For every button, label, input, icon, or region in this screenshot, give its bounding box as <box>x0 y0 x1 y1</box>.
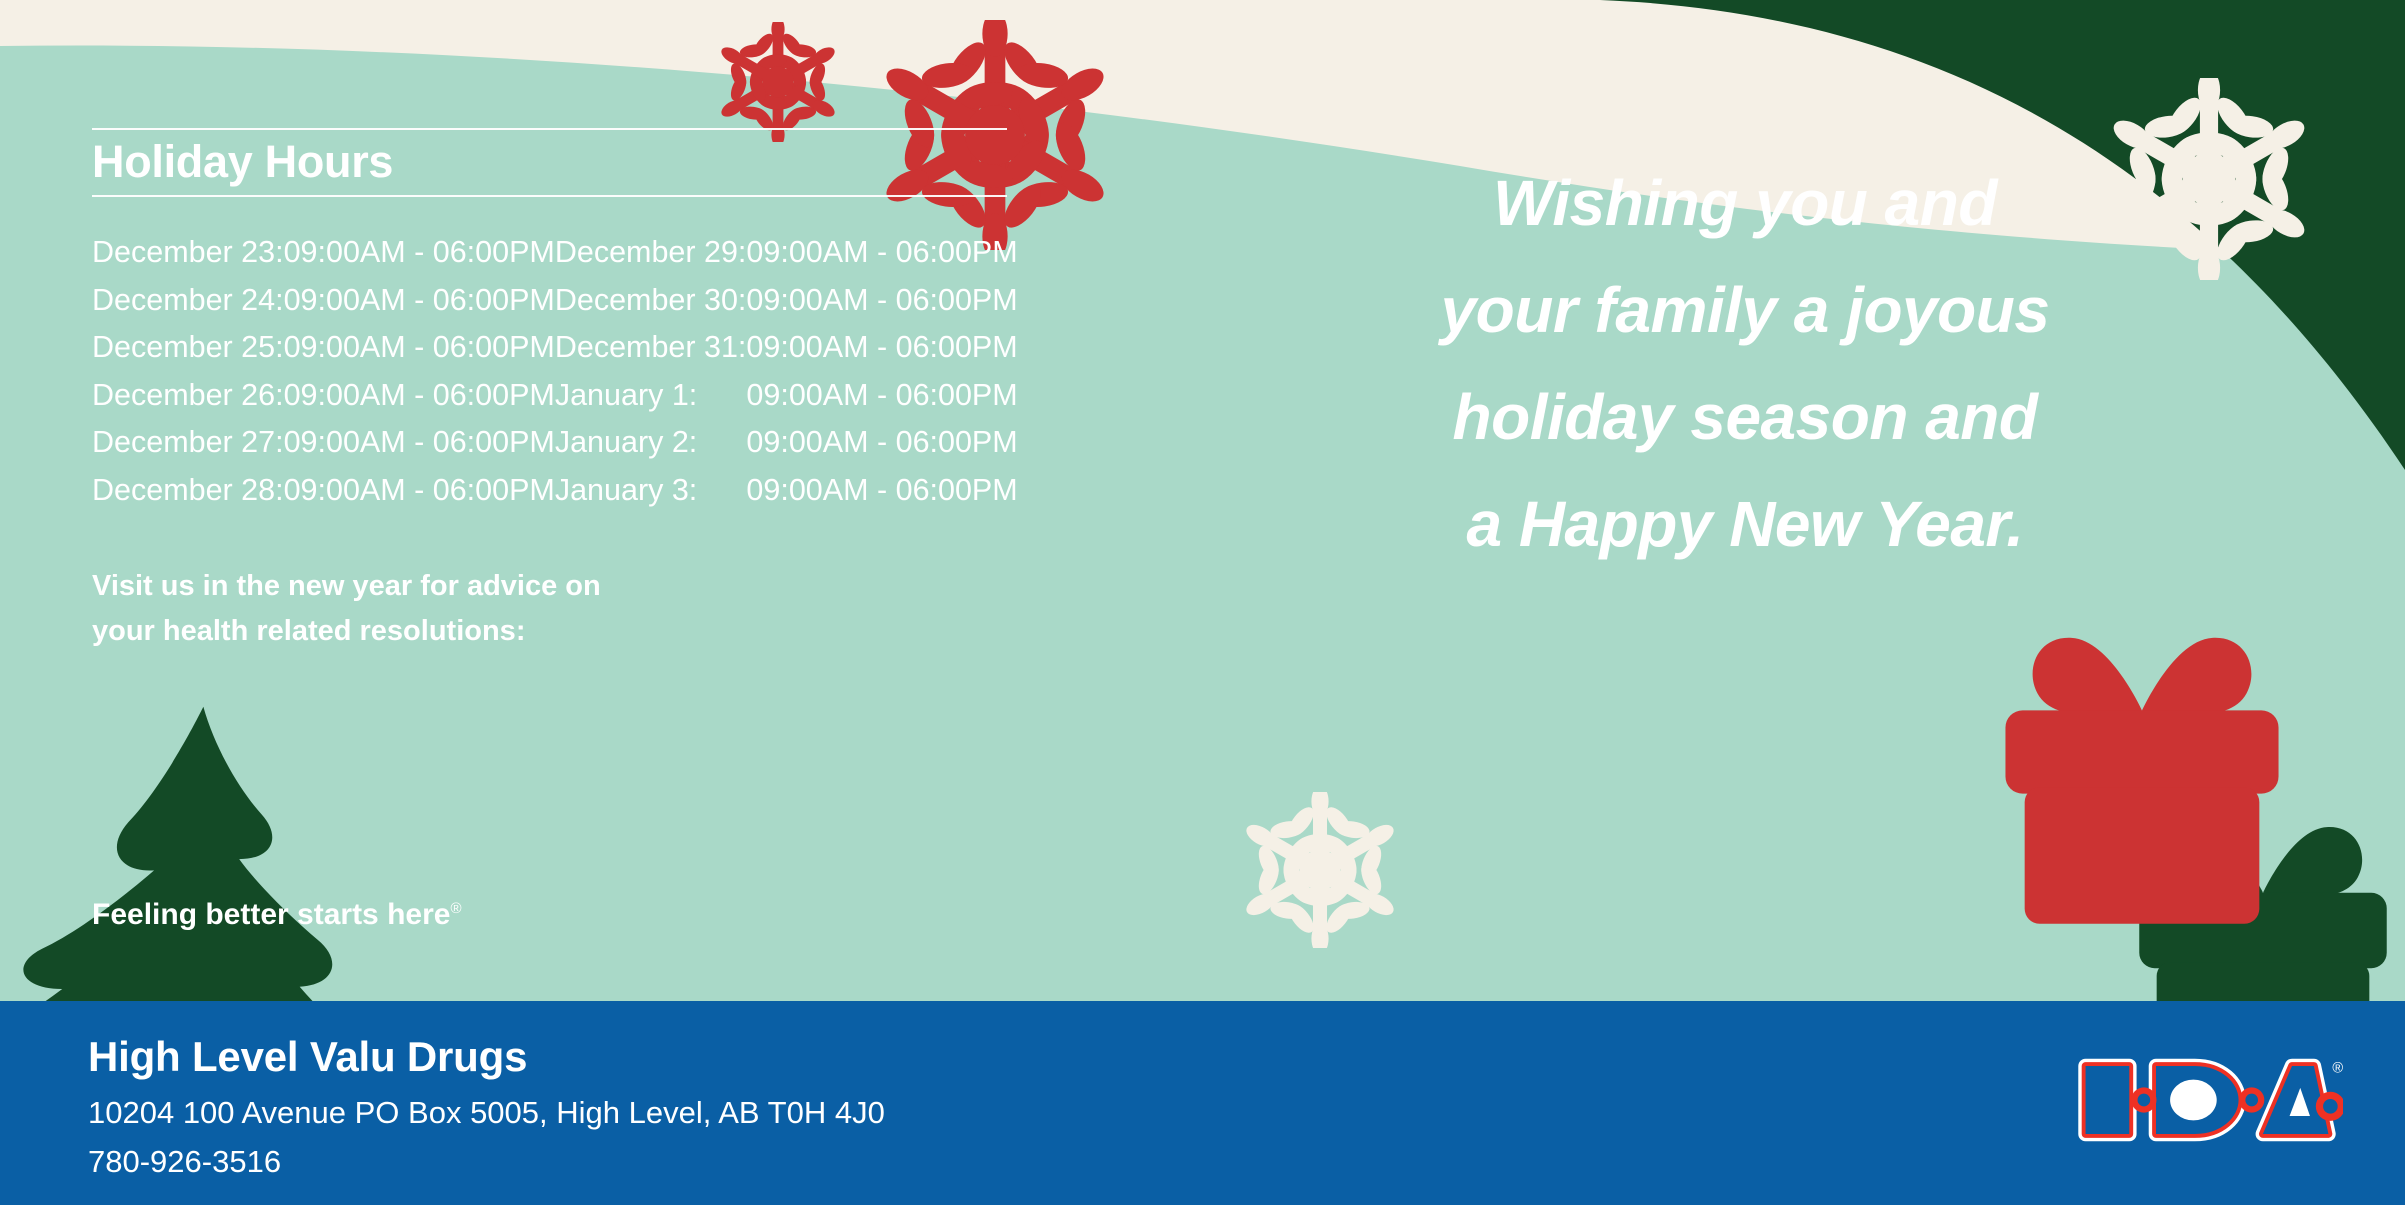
hours-time-value: 09:00AM - 06:00PM <box>284 229 555 277</box>
hours-time-value: 09:00AM - 06:00PM <box>746 372 1017 420</box>
hours-time-value: 09:00AM - 06:00PM <box>746 277 1017 325</box>
hours-date-label: December 26: <box>92 372 284 420</box>
greeting-line-2: your family a joyous <box>1330 257 2160 364</box>
greeting-line-3: holiday season and <box>1330 364 2160 471</box>
hours-date-label: December 27: <box>92 419 284 467</box>
store-phone: 780-926-3516 <box>88 1144 281 1180</box>
visit-us-message: Visit us in the new year for advice on y… <box>92 564 852 654</box>
table-row: December 24: 09:00AM - 06:00PM December … <box>92 277 1018 325</box>
hours-date-label: January 1: <box>555 372 747 420</box>
greeting-line-4: a Happy New Year. <box>1330 471 2160 578</box>
hours-date-label: January 3: <box>555 467 747 515</box>
hours-time-value: 09:00AM - 06:00PM <box>746 419 1017 467</box>
hours-time-value: 09:00AM - 06:00PM <box>284 419 555 467</box>
hours-date-label: December 29: <box>555 229 747 277</box>
ida-logo: ® <box>2071 1044 2343 1156</box>
hours-time-value: 09:00AM - 06:00PM <box>284 277 555 325</box>
hours-rule-bottom <box>92 195 1007 197</box>
table-row: December 23: 09:00AM - 06:00PM December … <box>92 229 1018 277</box>
hours-date-label: December 31: <box>555 324 747 372</box>
hours-time-value: 09:00AM - 06:00PM <box>746 324 1017 372</box>
holiday-hours-banner: Holiday Hours December 23: 09:00AM - 06:… <box>0 0 2405 1205</box>
store-name: High Level Valu Drugs <box>88 1033 527 1081</box>
table-row: December 28: 09:00AM - 06:00PM January 3… <box>92 467 1018 515</box>
hours-date-label: January 2: <box>555 419 747 467</box>
hours-date-label: December 28: <box>92 467 284 515</box>
table-row: December 27: 09:00AM - 06:00PM January 2… <box>92 419 1018 467</box>
hours-time-value: 09:00AM - 06:00PM <box>284 467 555 515</box>
hours-date-label: December 23: <box>92 229 284 277</box>
holiday-hours-block: Holiday Hours December 23: 09:00AM - 06:… <box>92 128 1122 514</box>
hours-date-label: December 30: <box>555 277 747 325</box>
registered-trademark-icon: ® <box>450 900 461 917</box>
logo-registered-mark: ® <box>2332 1060 2343 1076</box>
tagline: Feeling better starts here® <box>92 898 462 932</box>
hours-title: Holiday Hours <box>92 130 1122 195</box>
hours-date-label: December 24: <box>92 277 284 325</box>
hours-time-value: 09:00AM - 06:00PM <box>746 467 1017 515</box>
hours-time-value: 09:00AM - 06:00PM <box>284 372 555 420</box>
tagline-text: Feeling better starts here <box>92 898 450 931</box>
footer-bar: High Level Valu Drugs 10204 100 Avenue P… <box>0 1001 2405 1205</box>
greeting-line-1: Wishing you and <box>1330 150 2160 257</box>
table-row: December 26: 09:00AM - 06:00PM January 1… <box>92 372 1018 420</box>
visit-line-2: your health related resolutions: <box>92 609 852 654</box>
hours-time-value: 09:00AM - 06:00PM <box>746 229 1017 277</box>
gift-box-icon-red <box>2005 638 2278 924</box>
visit-line-1: Visit us in the new year for advice on <box>92 564 852 609</box>
snowflake-icon-cream-bottom <box>1228 786 1412 954</box>
store-address: 10204 100 Avenue PO Box 5005, High Level… <box>88 1095 885 1131</box>
table-row: December 25: 09:00AM - 06:00PM December … <box>92 324 1018 372</box>
hours-time-value: 09:00AM - 06:00PM <box>284 324 555 372</box>
hours-date-label: December 25: <box>92 324 284 372</box>
hours-rule-top <box>92 128 1007 130</box>
hours-table: December 23: 09:00AM - 06:00PM December … <box>92 229 1018 514</box>
greeting-message: Wishing you and your family a joyous hol… <box>1330 150 2160 578</box>
